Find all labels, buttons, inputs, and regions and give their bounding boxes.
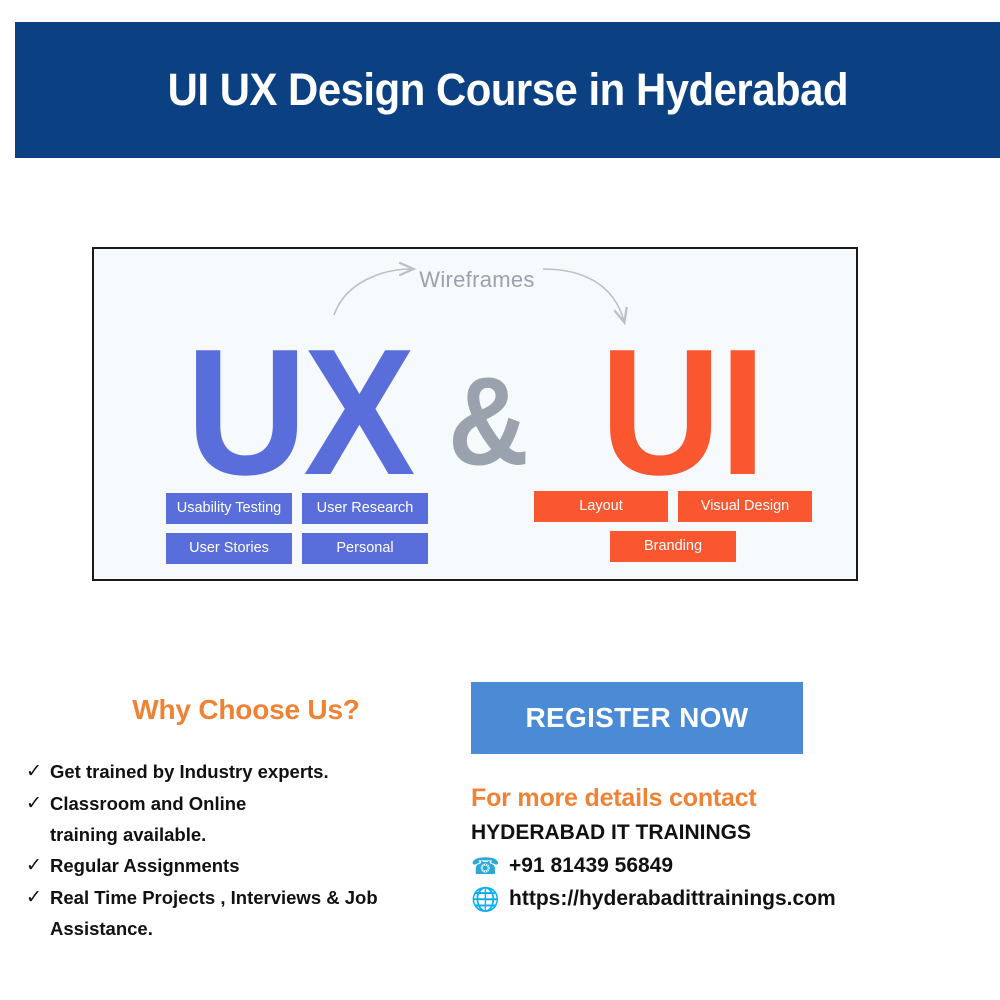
contact-company-name: HYDERABAD IT TRAININGS xyxy=(471,821,971,845)
list-item-label: Get trained by Industry experts. xyxy=(50,756,329,787)
tag-visual-design[interactable]: Visual Design xyxy=(678,491,812,522)
contact-section: For more details contact HYDERABAD IT TR… xyxy=(471,784,971,911)
telephone-icon: ☎ xyxy=(471,855,509,878)
wireframes-label: Wireframes xyxy=(94,267,858,293)
tag-user-stories[interactable]: User Stories xyxy=(166,533,292,564)
poster-page: UI UX Design Course in Hyderabad Wirefra… xyxy=(0,0,1000,1000)
list-item-label: Real Time Projects , Interviews & Job As… xyxy=(50,882,378,944)
contact-website-line: 🌐 https://hyderabadittrainings.com xyxy=(471,887,971,911)
page-title: UI UX Design Course in Hyderabad xyxy=(167,64,847,116)
header-banner: UI UX Design Course in Hyderabad xyxy=(15,22,1000,158)
ux-ui-diagram: Wireframes UX & UI Usability Testing Use… xyxy=(92,247,858,581)
globe-icon: 🌐 xyxy=(471,888,509,911)
contact-website-value[interactable]: https://hyderabadittrainings.com xyxy=(509,887,836,911)
check-icon: ✓ xyxy=(26,788,50,820)
contact-phone-line: ☎ +91 81439 56849 xyxy=(471,854,971,878)
list-item: ✓ Regular Assignments xyxy=(26,850,456,882)
tag-branding[interactable]: Branding xyxy=(610,531,736,562)
why-choose-bullet-list: ✓ Get trained by Industry experts. ✓ Cla… xyxy=(26,756,456,944)
contact-phone-value[interactable]: +91 81439 56849 xyxy=(509,854,673,878)
list-item: ✓ Classroom and Online training availabl… xyxy=(26,788,456,850)
ui-tag-row-1: Layout Visual Design xyxy=(534,491,812,522)
list-item-label: Regular Assignments xyxy=(50,850,240,881)
register-now-button[interactable]: REGISTER NOW xyxy=(471,682,803,754)
check-icon: ✓ xyxy=(26,756,50,788)
check-icon: ✓ xyxy=(26,850,50,882)
ux-tag-row-2: User Stories Personal xyxy=(166,533,428,564)
contact-heading: For more details contact xyxy=(471,784,971,813)
ui-letters: UI xyxy=(600,322,764,502)
tag-personal[interactable]: Personal xyxy=(302,533,428,564)
why-choose-title: Why Choose Us? xyxy=(36,694,456,726)
ux-tag-row-1: Usability Testing User Research xyxy=(166,493,428,524)
list-item-label: Classroom and Online training available. xyxy=(50,788,246,850)
why-choose-section: Why Choose Us? ✓ Get trained by Industry… xyxy=(26,694,456,944)
tag-layout[interactable]: Layout xyxy=(534,491,668,522)
check-icon: ✓ xyxy=(26,882,50,914)
ui-tag-row-2: Branding xyxy=(610,531,736,562)
list-item: ✓ Get trained by Industry experts. xyxy=(26,756,456,788)
ux-letters: UX xyxy=(186,322,411,502)
tag-user-research[interactable]: User Research xyxy=(302,493,428,524)
tag-usability-testing[interactable]: Usability Testing xyxy=(166,493,292,524)
list-item: ✓ Real Time Projects , Interviews & Job … xyxy=(26,882,456,944)
ampersand-glyph: & xyxy=(448,359,529,484)
